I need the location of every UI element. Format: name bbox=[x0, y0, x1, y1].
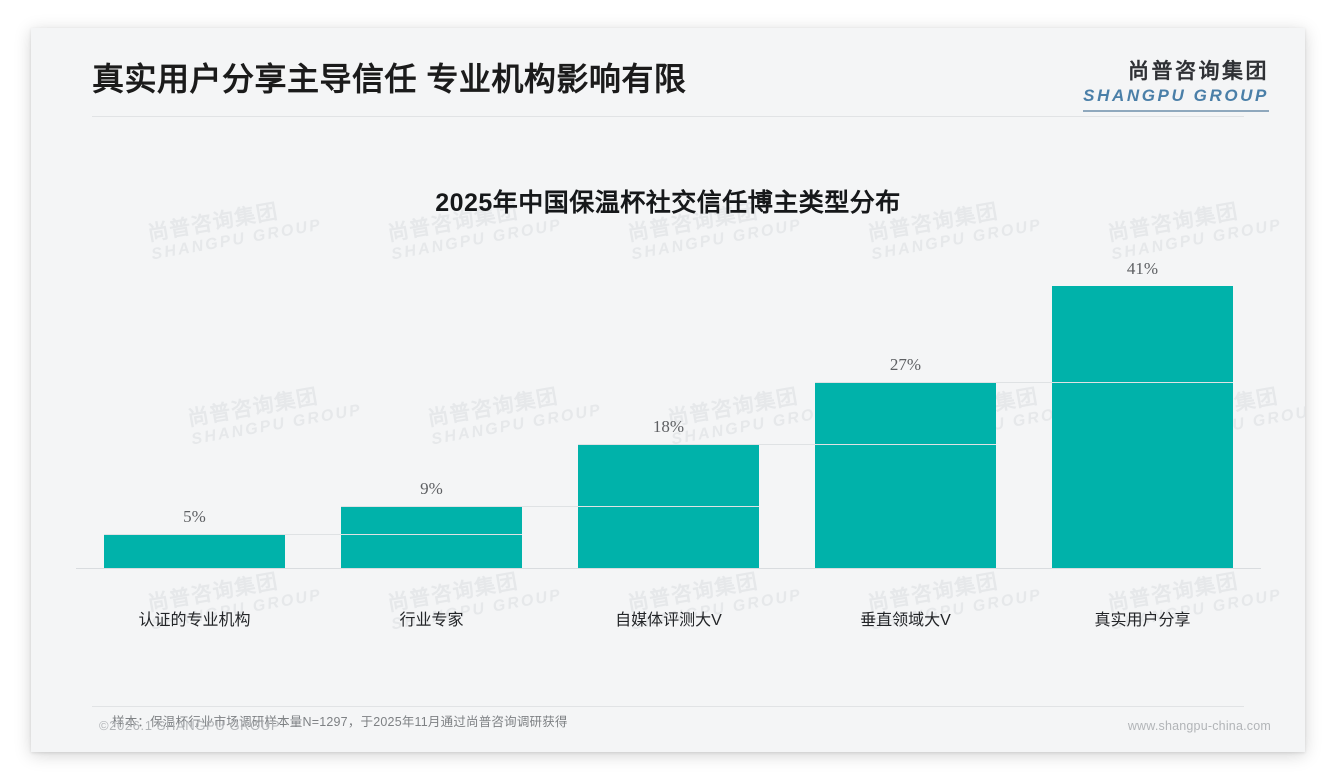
header-divider bbox=[92, 116, 1244, 117]
chart-bar-group: 18% bbox=[550, 258, 787, 568]
chart-bar-value-label: 9% bbox=[313, 479, 550, 499]
chart-bar-value-label: 41% bbox=[1024, 259, 1261, 279]
chart-bar[interactable] bbox=[104, 534, 284, 568]
logo-chinese-text: 尚普咨询集团 bbox=[1083, 60, 1269, 85]
chart-step-connector bbox=[104, 534, 521, 535]
chart-step-connector bbox=[578, 444, 995, 445]
chart-category-label: 垂直领域大V bbox=[787, 606, 1024, 630]
logo-underline bbox=[1083, 110, 1269, 112]
chart-category-label: 自媒体评测大V bbox=[550, 606, 787, 630]
chart-step-connector bbox=[815, 382, 1232, 383]
chart-bar-group: 9% bbox=[313, 258, 550, 568]
chart-bar-group: 27% bbox=[787, 258, 1024, 568]
brand-logo: 尚普咨询集团 SHANGPU GROUP bbox=[1083, 60, 1269, 112]
chart-plot-area: 5%9%18%27%41% bbox=[76, 258, 1261, 568]
chart-bar-group: 41% bbox=[1024, 258, 1261, 568]
chart-bar-group: 5% bbox=[76, 258, 313, 568]
chart-axis-line bbox=[76, 568, 1261, 569]
chart-bar[interactable] bbox=[815, 382, 995, 568]
chart-bar-value-label: 18% bbox=[550, 417, 787, 437]
chart-category-label: 行业专家 bbox=[313, 606, 550, 630]
slide-card: 尚普咨询集团SHANGPU GROUP尚普咨询集团SHANGPU GROUP尚普… bbox=[31, 28, 1305, 752]
chart-category-label: 真实用户分享 bbox=[1024, 606, 1261, 630]
website-url[interactable]: www.shangpu-china.com bbox=[1128, 719, 1271, 733]
chart-bar[interactable] bbox=[341, 506, 521, 568]
chart-category-label: 认证的专业机构 bbox=[76, 606, 313, 630]
chart-bar-value-label: 27% bbox=[787, 355, 1024, 375]
logo-english-text: SHANGPU GROUP bbox=[1083, 86, 1269, 106]
copyright-text: ©2026.1 SHANGPU GROUP bbox=[99, 718, 280, 733]
slide-bottom-bar: ©2026.1 SHANGPU GROUP www.shangpu-china.… bbox=[31, 705, 1305, 752]
chart-bar-value-label: 5% bbox=[76, 507, 313, 527]
chart-title: 2025年中国保温杯社交信任博主类型分布 bbox=[31, 183, 1305, 219]
page-title: 真实用户分享主导信任 专业机构影响有限 bbox=[92, 54, 686, 100]
chart-bar[interactable] bbox=[1052, 286, 1232, 568]
chart-category-labels: 认证的专业机构行业专家自媒体评测大V垂直领域大V真实用户分享 bbox=[76, 606, 1261, 636]
chart-step-connector bbox=[341, 506, 758, 507]
